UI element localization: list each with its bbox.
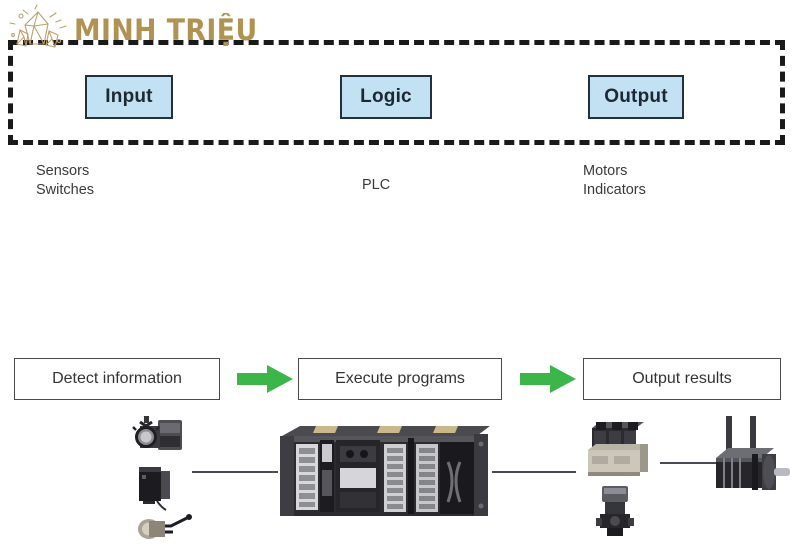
stage-band-dashed-frame: Input Logic Output bbox=[8, 40, 785, 145]
plc-rack-modules bbox=[276, 422, 492, 526]
push-button-switch bbox=[130, 414, 190, 462]
flow-step-execute-programs: Execute programs bbox=[298, 358, 502, 400]
caption-output-devices: Motors Indicators bbox=[583, 162, 646, 200]
stage-box-input: Input bbox=[85, 75, 173, 119]
proximity-sensor bbox=[135, 512, 205, 546]
photoelectric-sensor bbox=[133, 465, 185, 513]
device-illustration-area bbox=[0, 200, 800, 345]
flow-step-output-results: Output results bbox=[583, 358, 781, 400]
caption-input-devices: Sensors Switches bbox=[36, 162, 94, 200]
solenoid-valve bbox=[588, 482, 644, 538]
process-flow-row: Detect information Execute programs Outp… bbox=[0, 358, 800, 404]
arrow-right-icon-2 bbox=[520, 365, 576, 393]
servo-motor bbox=[708, 414, 794, 500]
stage-box-output: Output bbox=[588, 75, 684, 119]
connector-line-input-to-plc bbox=[192, 471, 278, 473]
arrow-right-icon-1 bbox=[237, 365, 293, 393]
connector-line-plc-to-output bbox=[492, 471, 576, 473]
caption-plc: PLC bbox=[362, 176, 390, 195]
relay-contactor-block bbox=[578, 418, 658, 480]
flow-step-detect-information: Detect information bbox=[14, 358, 220, 400]
stage-box-logic: Logic bbox=[340, 75, 432, 119]
